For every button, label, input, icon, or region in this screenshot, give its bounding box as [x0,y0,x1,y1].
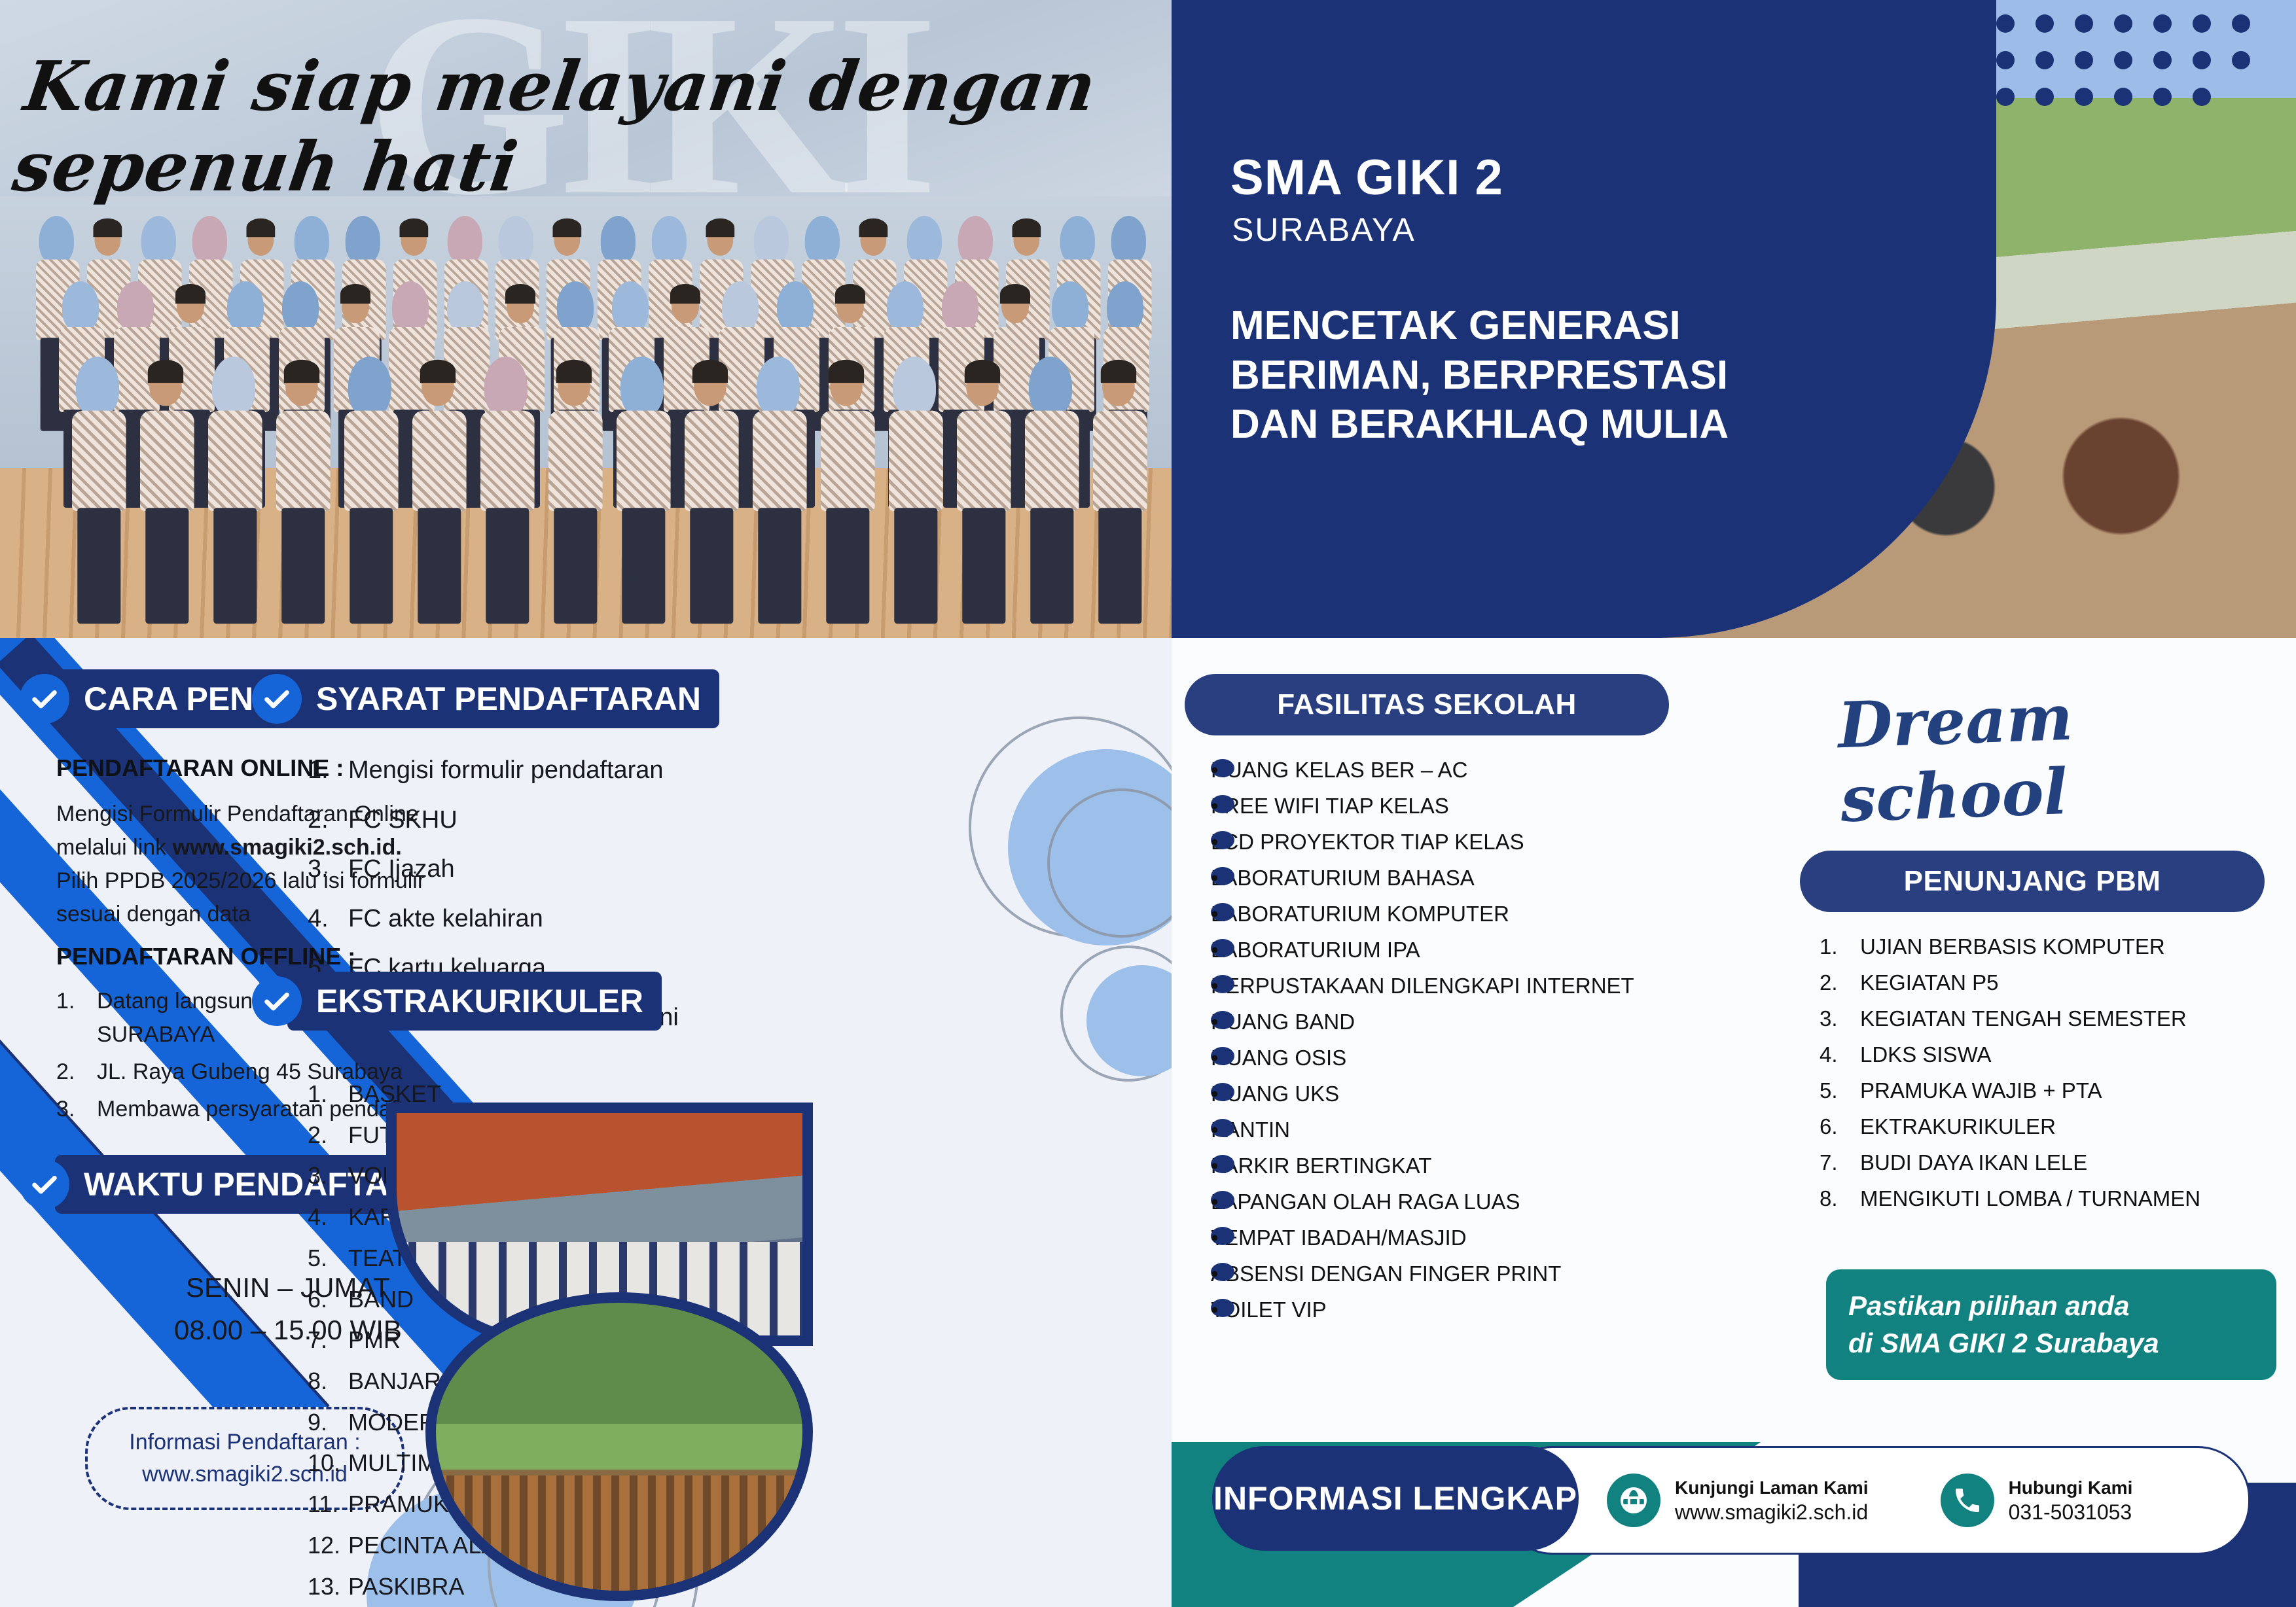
person-legs [826,508,869,624]
list-item: •TOILET VIP [1211,1299,1748,1320]
person-hair [1101,360,1136,383]
cta-teal-box: Pastikan pilihan anda di SMA GIKI 2 Sura… [1826,1269,2276,1380]
person-hair [505,284,535,304]
check-icon [20,1159,69,1209]
list-number: 8. [308,1364,348,1400]
person-hair [556,360,592,383]
list-number: 6. [1820,1116,1860,1137]
list-item: 3.FC Ijazah [308,849,779,890]
online-text-2-prefix: melalui link [56,835,173,860]
list-label: LDKS SISWA [1860,1044,1992,1065]
list-item: 8.MENGIKUTI LOMBA / TURNAMEN [1820,1188,2278,1209]
list-item: 3.KEGIATAN TENGAH SEMESTER [1820,1008,2278,1029]
list-label: FC SKHU [348,800,457,841]
bullet-icon: • [1211,939,1234,957]
person-hijab [346,216,380,264]
decorative-dot [1996,14,2015,33]
website-caption: Kunjungi Laman Kami [1675,1476,1869,1499]
bullet-icon: • [1211,1191,1234,1209]
person-hair [420,360,456,383]
dream-school-script: Dream school [1837,673,2296,836]
decorative-dot [2075,14,2093,33]
person-hijab [1060,216,1095,264]
left-content: CARA PENDAFTARAN PENDAFTARAN ONLINE : Me… [0,638,1172,1607]
list-number: 2. [1820,972,1860,993]
person-hijab [1052,281,1088,332]
list-item: •LABORATURIUM KOMPUTER [1211,903,1748,925]
decorative-dot [2153,88,2172,106]
list-number: 12. [308,1528,348,1564]
person-hijab [652,216,687,264]
list-number: 2. [308,800,348,841]
decorative-dot [2114,14,2132,33]
list-item: 7.BUDI DAYA IKAN LELE [1820,1152,2278,1173]
list-label: FREE WIFI TIAP KELAS [1211,795,1449,817]
check-icon [20,674,69,724]
person-hijab [62,281,99,332]
left-script-headline: Kami siap melayani dengan sepenuh hati [9,46,1144,207]
syarat-pendaftaran-title: SYARAT PENDAFTARAN [287,669,719,728]
contact-card: Kunjungi Laman Kami www.smagiki2.sch.id … [1500,1446,2250,1555]
decorative-dot [2114,51,2132,69]
person-hair [1000,284,1030,304]
person-hair [553,219,582,238]
decorative-dot [1957,51,1975,69]
list-label: LABORATURIUM BAHASA [1211,867,1475,889]
website-value: www.smagiki2.sch.id [1675,1499,1869,1525]
list-number: 4. [308,1199,348,1235]
list-number: 7. [308,1322,348,1358]
bullet-icon: • [1211,975,1234,993]
list-number: 3. [308,1158,348,1194]
person-hijab [227,281,264,332]
list-item: •RUANG OSIS [1211,1047,1748,1068]
list-item: •PERPUSTAKAAN DILENGKAPI INTERNET [1211,975,1748,997]
person-hijab [141,216,176,264]
list-number: 4. [1820,1044,1860,1065]
person-legs [622,508,665,624]
list-item: 2.KEGIATAN P5 [1820,972,2278,993]
list-number: 10. [308,1445,348,1481]
list-item: •RUANG UKS [1211,1083,1748,1104]
list-item: •FREE WIFI TIAP KELAS [1211,795,1748,817]
decorative-dot [2193,88,2211,106]
bullet-icon: • [1211,1011,1234,1029]
person-legs [281,508,325,624]
list-label: RUANG KELAS BER – AC [1211,759,1467,781]
bullet-icon: • [1211,1299,1234,1317]
contact-phone[interactable]: Hubungi Kami 031-5031053 [1941,1474,2133,1527]
person-hijab [39,216,74,264]
person-hijab [942,281,978,332]
list-number: 1. [308,1076,348,1112]
person-legs [690,508,733,624]
person-hijab [212,357,255,417]
globe-icon [1607,1474,1660,1527]
person-legs [962,508,1005,624]
bullet-icon: • [1211,795,1234,813]
penunjang-list: 1.UJIAN BERBASIS KOMPUTER2.KEGIATAN P53.… [1820,936,2278,1209]
list-number: 11. [308,1487,348,1523]
decorative-dot [2036,88,2054,106]
person-hijab [620,357,664,417]
list-item: 4.FC akte kelahiran [308,899,779,940]
person-hijab [958,216,993,264]
list-number: 1. [308,751,348,791]
list-label: TEMPAT IBADAH/MASJID [1211,1227,1467,1248]
person-legs [894,508,937,624]
bullet-icon: • [1211,1119,1234,1137]
person-hair [94,219,122,238]
person-hijab [192,216,227,264]
list-label: LCD PROYEKTOR TIAP KELAS [1211,831,1524,853]
school-city: SURABAYA [1232,211,1416,249]
bullet-icon: • [1211,1227,1234,1245]
list-number: 3. [56,1093,97,1126]
person-legs [554,508,597,624]
teacher-group-photo [0,196,1172,638]
person-hair [692,360,728,383]
list-item: 1.Mengisi formulir pendaftaran [308,751,779,791]
bullet-icon: • [1211,1263,1234,1281]
informasi-lengkap-label: INFORMASI LENGKAP [1212,1446,1579,1551]
list-item: 1.UJIAN BERBASIS KOMPUTER [1820,936,2278,957]
person-batik-shirt [276,411,331,511]
bullet-icon: • [1211,1047,1234,1065]
person-hijab [557,281,594,332]
person-hair [859,219,888,238]
person-batik-shirt [72,411,126,511]
bullet-icon: • [1211,759,1234,777]
phone-icon [1941,1474,1994,1527]
list-label: ABSENSI DENGAN FINGER PRINT [1211,1263,1561,1284]
person-batik-shirt [889,411,943,511]
list-number: 13. [308,1569,348,1605]
person-hijab [348,357,391,417]
person-batik-shirt [344,411,399,511]
person-batik-shirt [1025,411,1079,511]
list-label: PARKIR BERTINGKAT [1211,1155,1431,1176]
penunjang-list-wrap: 1.UJIAN BERBASIS KOMPUTER2.KEGIATAN P53.… [1820,936,2278,1224]
person-hijab [907,216,942,264]
list-item: 6.EKTRAKURIKULER [1820,1116,2278,1137]
list-label: BUDI DAYA IKAN LELE [1860,1152,2087,1173]
list-label: LABORATURIUM KOMPUTER [1211,903,1509,925]
penunjang-pbm-title: PENUNJANG PBM [1800,851,2265,912]
decorative-dot [2114,88,2132,106]
list-number: 1. [1820,936,1860,957]
person-hair [835,284,865,304]
person-hijab [1029,357,1072,417]
list-label: FC akte kelahiran [348,899,543,940]
person-hair [247,219,276,238]
decorative-dot [2193,14,2211,33]
decorative-dot [1996,88,2015,106]
section-header-ekstrakurikuler: EKSTRAKURIKULER [252,972,662,1031]
dot-grid-decoration [1957,14,2271,113]
list-item: •LCD PROYEKTOR TIAP KELAS [1211,831,1748,853]
list-item: 2.FC SKHU [308,800,779,841]
decorative-dot [2153,14,2172,33]
list-label: KEGIATAN TENGAH SEMESTER [1860,1008,2187,1029]
phone-value: 031-5031053 [2009,1499,2133,1525]
person-batik-shirt [957,411,1011,511]
decorative-dot [1957,14,1975,33]
decorative-dot [2075,51,2093,69]
list-item: •KANTIN [1211,1119,1748,1140]
list-number: 1. [56,985,97,1051]
list-number: 4. [308,899,348,940]
left-panel: GIKI Kami siap melayani dengan sepenuh h… [0,0,1172,1607]
list-item: •LAPANGAN OLAH RAGA LUAS [1211,1191,1748,1212]
person-batik-shirt [548,411,603,511]
person-hijab [1111,216,1146,264]
list-number: 8. [1820,1188,1860,1209]
list-number: 2. [308,1118,348,1154]
person-hijab [76,357,119,417]
list-item: •TEMPAT IBADAH/MASJID [1211,1227,1748,1248]
person-legs [1098,508,1141,624]
check-icon [252,976,302,1026]
person-batik-shirt [685,411,739,511]
list-label: PRAMUKA WAJIB + PTA [1860,1080,2102,1101]
list-item: •LABORATURIUM IPA [1211,939,1748,961]
list-number: 3. [308,849,348,890]
person-batik-shirt [617,411,671,511]
fasilitas-list: •RUANG KELAS BER – AC•FREE WIFI TIAP KEL… [1211,759,1748,1320]
list-item: •PARKIR BERTINGKAT [1211,1155,1748,1176]
decorative-dot [2153,51,2172,69]
person-legs [145,508,188,624]
person-batik-shirt [821,411,875,511]
person-hair [284,360,319,383]
list-number: 5. [308,1241,348,1277]
bullet-icon: • [1211,867,1234,885]
list-label: MENGIKUTI LOMBA / TURNAMEN [1860,1188,2200,1209]
school-name: SMA GIKI 2 [1230,149,1503,206]
person-hijab [282,281,319,332]
person-hijab [499,216,533,264]
list-label: LAPANGAN OLAH RAGA LUAS [1211,1191,1520,1212]
person-batik-shirt [140,411,194,511]
person-legs [758,508,801,624]
person-hijab [887,281,924,332]
list-number: 3. [1820,1008,1860,1029]
decorative-dot [2232,51,2250,69]
person-hair [706,219,735,238]
person-legs [418,508,461,624]
right-panel: SMA GIKI 2 SURABAYA MENCETAK GENERASI BE… [1172,0,2296,1607]
tagline-line-3: DAN BERAKHLAQ MULIA [1230,400,1729,450]
bullet-icon: • [1211,1083,1234,1101]
person-hair [829,360,864,383]
person-hijab [392,281,429,332]
person-legs [77,508,120,624]
tagline: MENCETAK GENERASI BERIMAN, BERPRESTASI D… [1230,301,1729,450]
person-legs [486,508,529,624]
person-hair [175,284,206,304]
phone-caption: Hubungi Kami [2009,1476,2133,1499]
person-hijab [447,281,484,332]
list-item: •RUANG BAND [1211,1011,1748,1033]
person-hijab [117,281,154,332]
list-item: •LABORATURIUM BAHASA [1211,867,1748,889]
list-item: 5.PRAMUKA WAJIB + PTA [1820,1080,2278,1101]
person-hijab [484,357,528,417]
decorative-dot [2075,88,2093,106]
person-hijab [722,281,759,332]
person-batik-shirt [208,411,262,511]
list-label: EKTRAKURIKULER [1860,1116,2056,1137]
decorative-dot [2232,14,2250,33]
list-number: 6. [308,1282,348,1318]
check-icon [252,674,302,724]
person-hijab [448,216,482,264]
person-hair [340,284,370,304]
fasilitas-sekolah-title: FASILITAS SEKOLAH [1185,674,1669,735]
person-batik-shirt [480,411,535,511]
ekstrakurikuler-title: EKSTRAKURIKULER [287,972,662,1031]
list-label: LABORATURIUM IPA [1211,939,1420,961]
person-hijab [1107,281,1143,332]
person-batik-shirt [1093,411,1147,511]
list-label: PERPUSTAKAAN DILENGKAPI INTERNET [1211,975,1634,997]
list-number: 7. [1820,1152,1860,1173]
person-hijab [777,281,814,332]
bullet-icon: • [1211,1155,1234,1173]
list-number: 9. [308,1405,348,1441]
decorative-dot [1996,51,2015,69]
list-label: KEGIATAN P5 [1860,972,1999,993]
tagline-line-2: BERIMAN, BERPRESTASI [1230,351,1729,400]
decorative-dot [1957,88,1975,106]
person-legs [350,508,393,624]
person-batik-shirt [412,411,467,511]
list-label: FC Ijazah [348,849,455,890]
list-number: 2. [56,1055,97,1089]
list-number: 5. [1820,1080,1860,1101]
photo-fun-camp [425,1292,813,1601]
person-batik-shirt [753,411,807,511]
left-hero-photo: GIKI Kami siap melayani dengan sepenuh h… [0,0,1172,638]
contact-website[interactable]: Kunjungi Laman Kami www.smagiki2.sch.id [1607,1474,1869,1527]
list-item: •ABSENSI DENGAN FINGER PRINT [1211,1263,1748,1284]
tagline-line-1: MENCETAK GENERASI [1230,301,1729,351]
informasi-lengkap-text: INFORMASI LENGKAP [1213,1479,1577,1517]
bullet-icon: • [1211,903,1234,921]
list-label: UJIAN BERBASIS KOMPUTER [1860,936,2165,957]
fasilitas-list-wrap: •RUANG KELAS BER – AC•FREE WIFI TIAP KEL… [1211,759,1748,1335]
decorative-dot [2036,51,2054,69]
person-hijab [612,281,649,332]
person-legs [1030,508,1073,624]
list-label: PMR [348,1322,401,1358]
decorative-dot [2036,14,2054,33]
informasi-lengkap-bar: Kunjungi Laman Kami www.smagiki2.sch.id … [1212,1446,2246,1551]
section-header-syarat-pendaftaran: SYARAT PENDAFTARAN [252,669,719,728]
person-hijab [601,216,636,264]
list-label: Mengisi formulir pendaftaran [348,751,664,791]
person-hair [965,360,1000,383]
list-item: •RUANG KELAS BER – AC [1211,759,1748,781]
person-hair [400,219,429,238]
brochure-page: GIKI Kami siap melayani dengan sepenuh h… [0,0,2296,1607]
cta-line-1: Pastikan pilihan anda [1848,1288,2254,1325]
person-hijab [893,357,936,417]
person-hijab [805,216,840,264]
person-legs [213,508,257,624]
list-item: 4.LDKS SISWA [1820,1044,2278,1065]
bullet-icon: • [1211,831,1234,849]
person-hair [670,284,700,304]
person-hijab [757,357,800,417]
person-hijab [295,216,329,264]
person-hair [1013,219,1041,238]
cta-line-2: di SMA GIKI 2 Surabaya [1848,1325,2254,1362]
person-hijab [754,216,789,264]
person-hair [148,360,183,383]
decorative-dot [2193,51,2211,69]
